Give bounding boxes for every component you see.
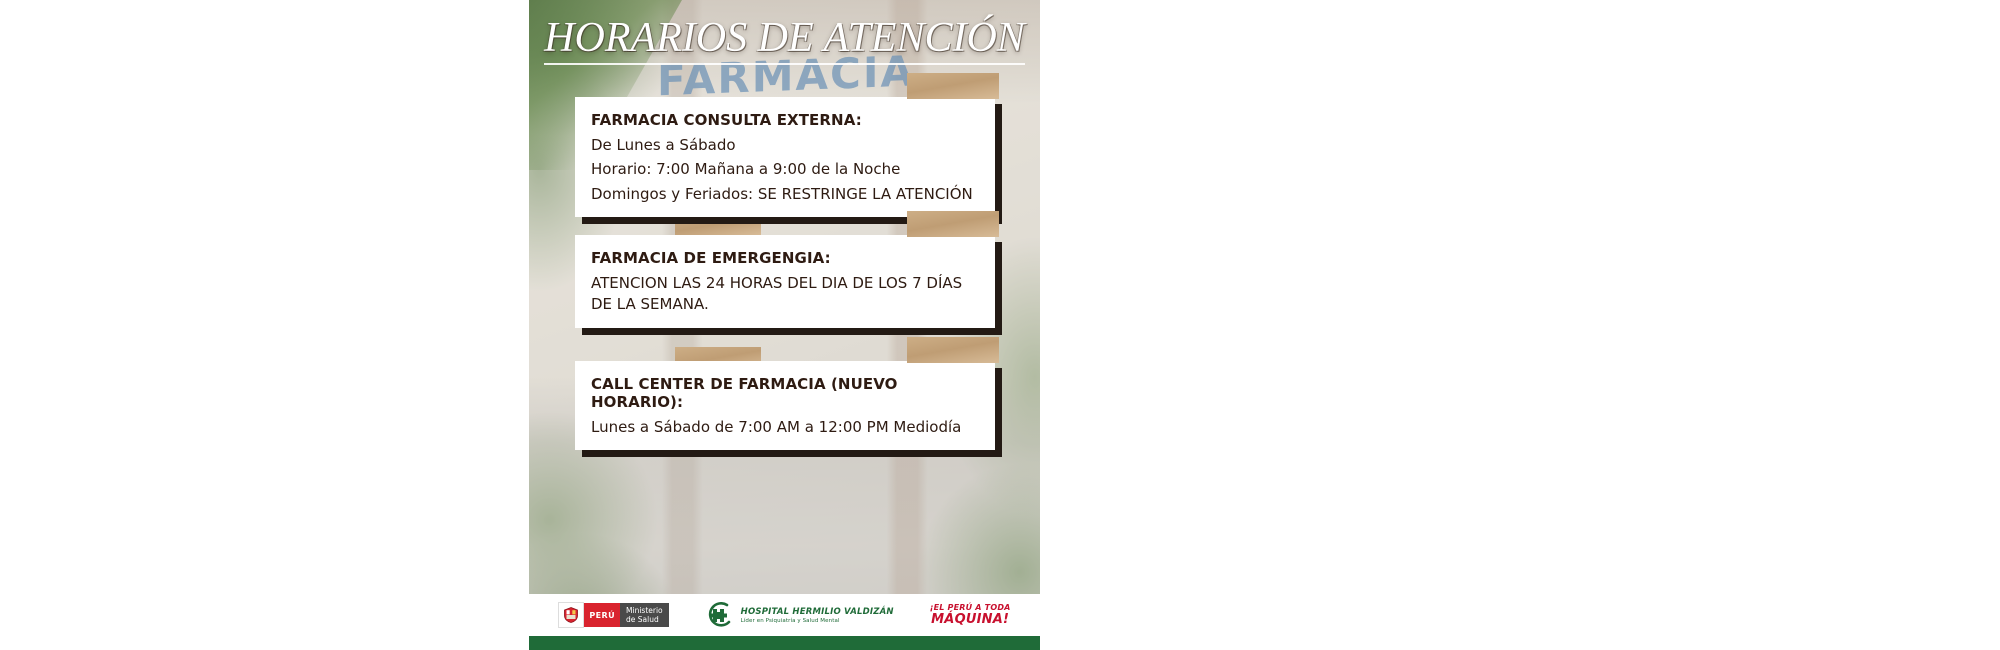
- poster: FARMACIA HORARIOS DE ATENCIÓN FARMACIA C…: [529, 0, 1040, 650]
- footer-logo-bar: PERÚ Ministerio de Salud HOSPITAL: [529, 594, 1040, 636]
- hospital-tagline: Líder en Psiquiatría y Salud Mental: [741, 618, 894, 624]
- campaign-line-1: ¡EL PERÚ A TODA: [930, 604, 1011, 612]
- page-title: HORARIOS DE ATENCIÓN: [529, 16, 1040, 60]
- campaign-logo: ¡EL PERÚ A TODA MÁQUINA!: [930, 604, 1011, 626]
- card-heading: CALL CENTER DE FARMACIA (NUEVO HORARIO):: [591, 375, 979, 411]
- minsa-logo: PERÚ Ministerio de Salud: [558, 603, 668, 627]
- poster-footer: PERÚ Ministerio de Salud HOSPITAL: [529, 464, 1040, 650]
- card-line: Domingos y Feriados: SE RESTRINGE LA ATE…: [591, 184, 979, 205]
- footer-green-bar: [529, 636, 1040, 650]
- peru-coat-of-arms-icon: [558, 602, 584, 628]
- card-line: Lunes a Sábado de 7:00 AM a 12:00 PM Med…: [591, 417, 979, 438]
- minsa-ministry-line-1: Ministerio: [626, 606, 663, 615]
- screenshot-canvas: FARMACIA HORARIOS DE ATENCIÓN FARMACIA C…: [0, 0, 2000, 650]
- card-line: Horario: 7:00 Mañana a 9:00 de la Noche: [591, 159, 979, 180]
- schedule-card-consulta-externa: FARMACIA CONSULTA EXTERNA: De Lunes a Sá…: [575, 97, 995, 217]
- card-line: De Lunes a Sábado: [591, 135, 979, 156]
- minsa-peru-label: PERÚ: [584, 603, 620, 627]
- hospital-emblem-icon: [705, 602, 735, 628]
- page-title-text: HORARIOS DE ATENCIÓN: [544, 15, 1025, 65]
- paper-tab-decoration: [907, 337, 999, 363]
- hospital-logo: HOSPITAL HERMILIO VALDIZÁN Líder en Psiq…: [705, 602, 894, 628]
- card-heading: FARMACIA DE EMERGENGIA:: [591, 249, 979, 267]
- schedule-card-call-center: CALL CENTER DE FARMACIA (NUEVO HORARIO):…: [575, 361, 995, 450]
- campaign-line-2: MÁQUINA!: [930, 613, 1011, 626]
- card-line: ATENCION LAS 24 HORAS DEL DIA DE LOS 7 D…: [591, 273, 979, 316]
- minsa-ministry-line-2: de Salud: [626, 615, 663, 624]
- paper-tab-decoration: [907, 73, 999, 99]
- paper-tab-decoration: [907, 211, 999, 237]
- minsa-ministry-label: Ministerio de Salud: [620, 603, 669, 627]
- hospital-logo-text: HOSPITAL HERMILIO VALDIZÁN Líder en Psiq…: [741, 607, 894, 624]
- card-heading: FARMACIA CONSULTA EXTERNA:: [591, 111, 979, 129]
- hospital-name: HOSPITAL HERMILIO VALDIZÁN: [741, 607, 894, 617]
- schedule-card-emergencia: FARMACIA DE EMERGENGIA: ATENCION LAS 24 …: [575, 235, 995, 328]
